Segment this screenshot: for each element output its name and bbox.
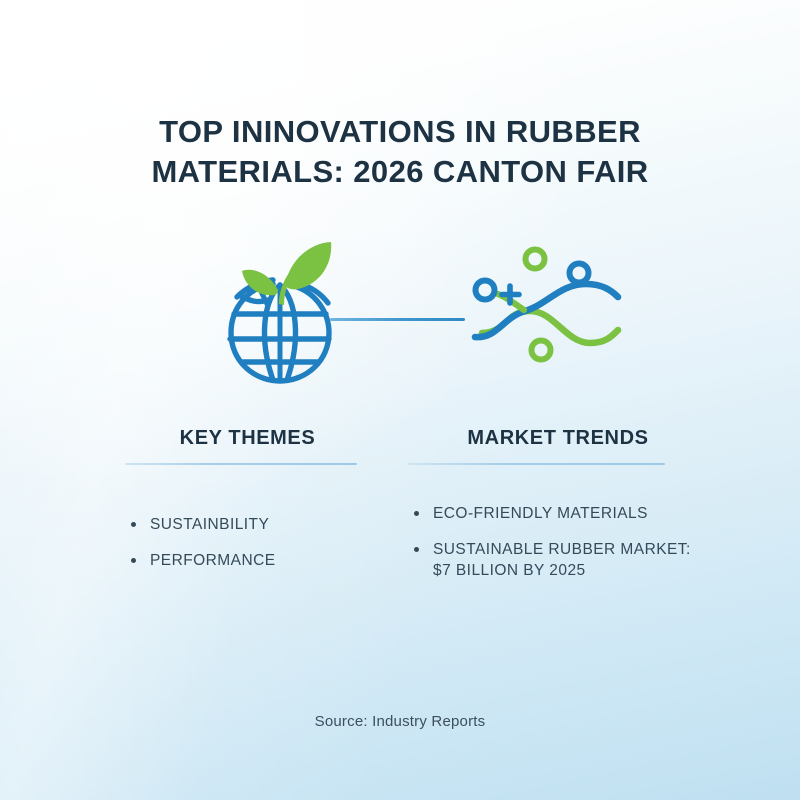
column-key-themes: KEY THEMES SUSTAINBILITY PERFORMANCE — [125, 425, 370, 586]
list-item: ECO-FRIENDLY MATERIALS — [408, 503, 708, 524]
bullet-dot-icon — [131, 558, 136, 563]
list-item: SUSTAINBILITY — [125, 514, 370, 535]
list-item-label: SUSTAINBILITY — [150, 514, 370, 535]
column-market-trends: MARKET TRENDS ECO-FRIENDLY MATERIALS SUS… — [408, 425, 708, 596]
title-line-1: TOP ININOVATIONS IN RUBBER — [0, 112, 800, 152]
column-rule-market-trends — [408, 463, 665, 465]
bullet-dot-icon — [414, 511, 419, 516]
column-heading-key-themes: KEY THEMES — [125, 425, 370, 451]
source-note: Source: Industry Reports — [0, 713, 800, 730]
page-title: TOP ININOVATIONS IN RUBBER MATERIALS: 20… — [0, 112, 800, 192]
icon-connector-line — [330, 318, 465, 321]
infographic-poster: TOP ININOVATIONS IN RUBBER MATERIALS: 20… — [0, 0, 800, 800]
list-item-label: SUSTAINABLE RUBBER MARKET: — [433, 539, 708, 560]
list-item: PERFORMANCE — [125, 550, 370, 571]
bullet-dot-icon — [131, 522, 136, 527]
bullet-list-market-trends: ECO-FRIENDLY MATERIALS SUSTAINABLE RUBBE… — [408, 503, 708, 581]
globe-plant-icon — [215, 240, 345, 385]
list-item-label: ECO-FRIENDLY MATERIALS — [433, 503, 708, 524]
list-item: SUSTAINABLE RUBBER MARKET: $7 BILLION BY… — [408, 539, 708, 581]
bullet-list-key-themes: SUSTAINBILITY PERFORMANCE — [125, 514, 370, 571]
title-line-2: MATERIALS: 2026 CANTON FAIR — [0, 152, 800, 192]
bullet-dot-icon — [414, 547, 419, 552]
column-heading-market-trends: MARKET TRENDS — [408, 425, 708, 451]
wave-molecule-icon — [462, 240, 632, 385]
column-rule-key-themes — [125, 463, 357, 465]
list-item-label: PERFORMANCE — [150, 550, 370, 571]
list-item-label-line2: $7 BILLION BY 2025 — [433, 560, 708, 581]
icon-row — [0, 240, 800, 385]
